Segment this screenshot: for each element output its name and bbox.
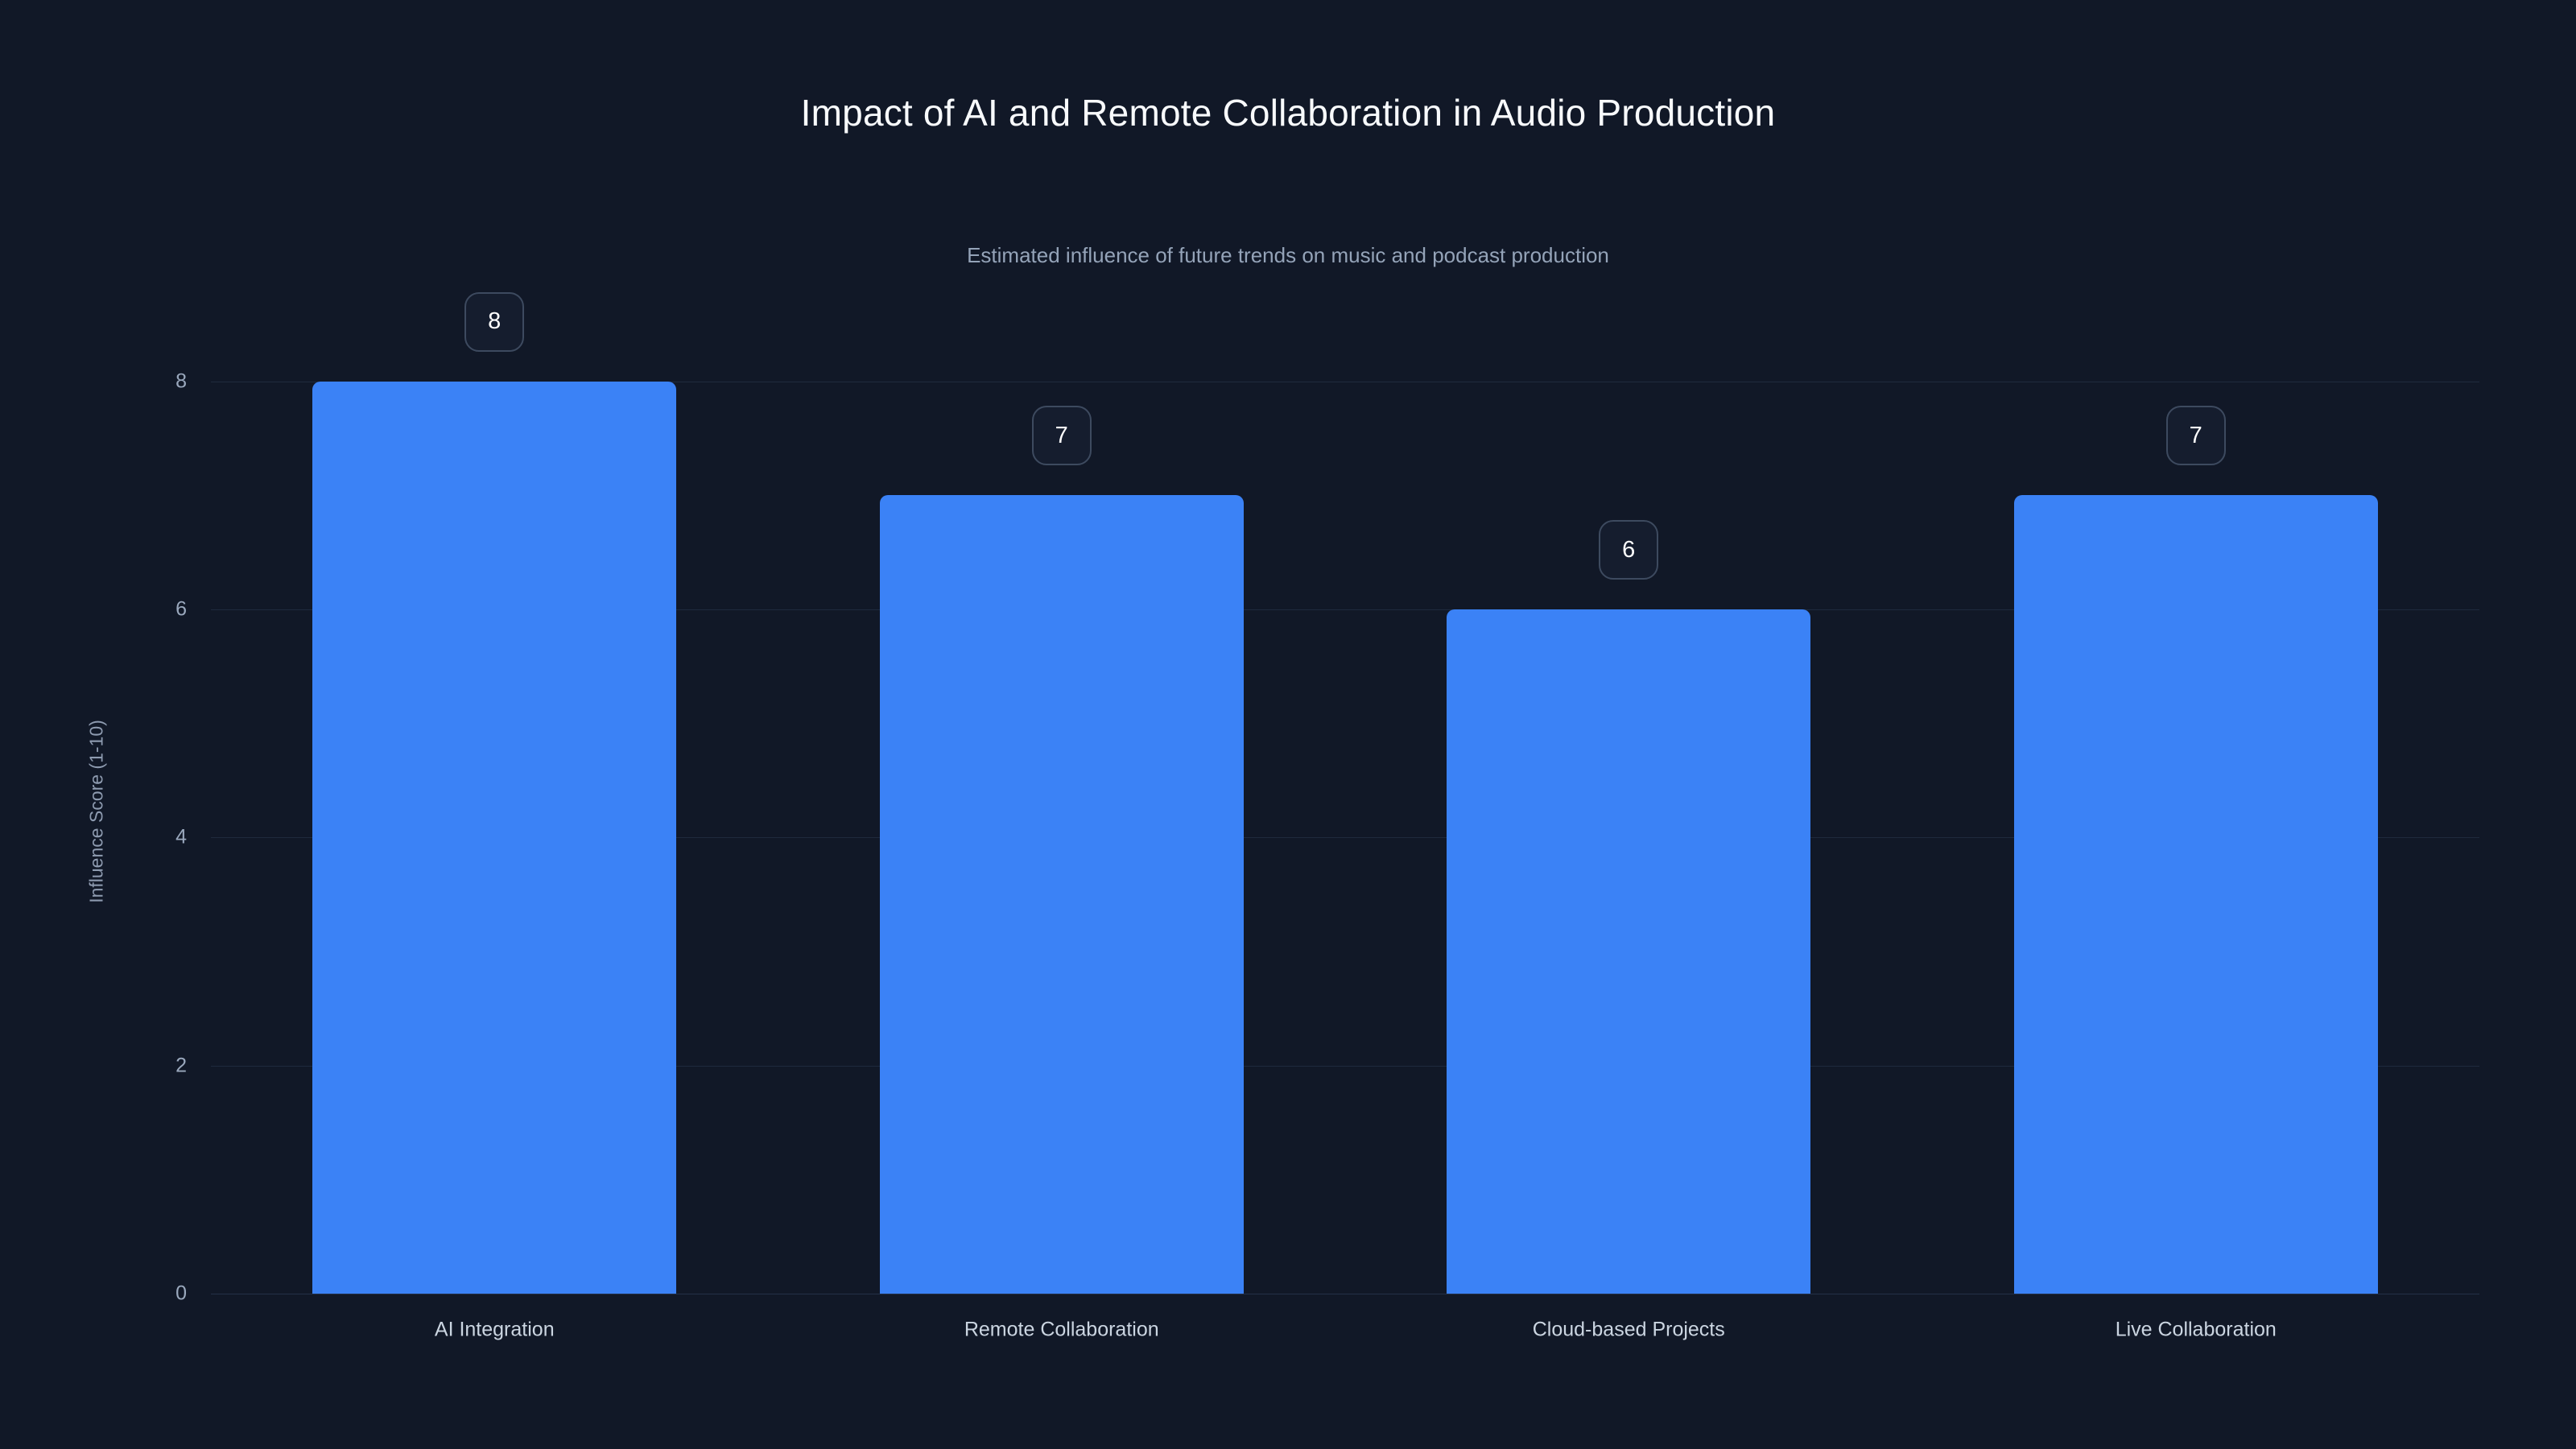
bar-value-badge: 8	[464, 292, 524, 352]
bar-value-badge: 7	[2166, 406, 2226, 465]
bar[interactable]	[312, 382, 676, 1294]
x-tick-label: Live Collaboration	[2116, 1319, 2277, 1342]
y-tick-label-8: 8	[175, 369, 187, 393]
y-tick-label-2: 2	[175, 1054, 187, 1077]
gridline-y-0	[211, 1294, 2479, 1294]
chart-title: Impact of AI and Remote Collaboration in…	[0, 91, 2576, 134]
bar[interactable]	[880, 495, 1244, 1294]
y-tick-label-0: 0	[175, 1282, 187, 1306]
bar-chart-canvas: Impact of AI and Remote Collaboration in…	[0, 0, 2576, 1449]
y-tick-label-6: 6	[175, 598, 187, 621]
y-axis-tick-labels: 02468	[0, 330, 187, 1294]
x-tick-label: Cloud-based Projects	[1533, 1319, 1725, 1342]
chart-subtitle: Estimated influence of future trends on …	[0, 243, 2576, 268]
x-tick-label: AI Integration	[435, 1319, 555, 1342]
bar[interactable]	[1447, 609, 1810, 1294]
bar-value-badge: 7	[1032, 406, 1092, 465]
x-tick-label: Remote Collaboration	[964, 1319, 1159, 1342]
bar[interactable]	[2014, 495, 2378, 1294]
plot-area: 8767	[211, 330, 2479, 1294]
bar-value-badge: 6	[1599, 520, 1658, 580]
y-tick-label-4: 4	[175, 826, 187, 849]
